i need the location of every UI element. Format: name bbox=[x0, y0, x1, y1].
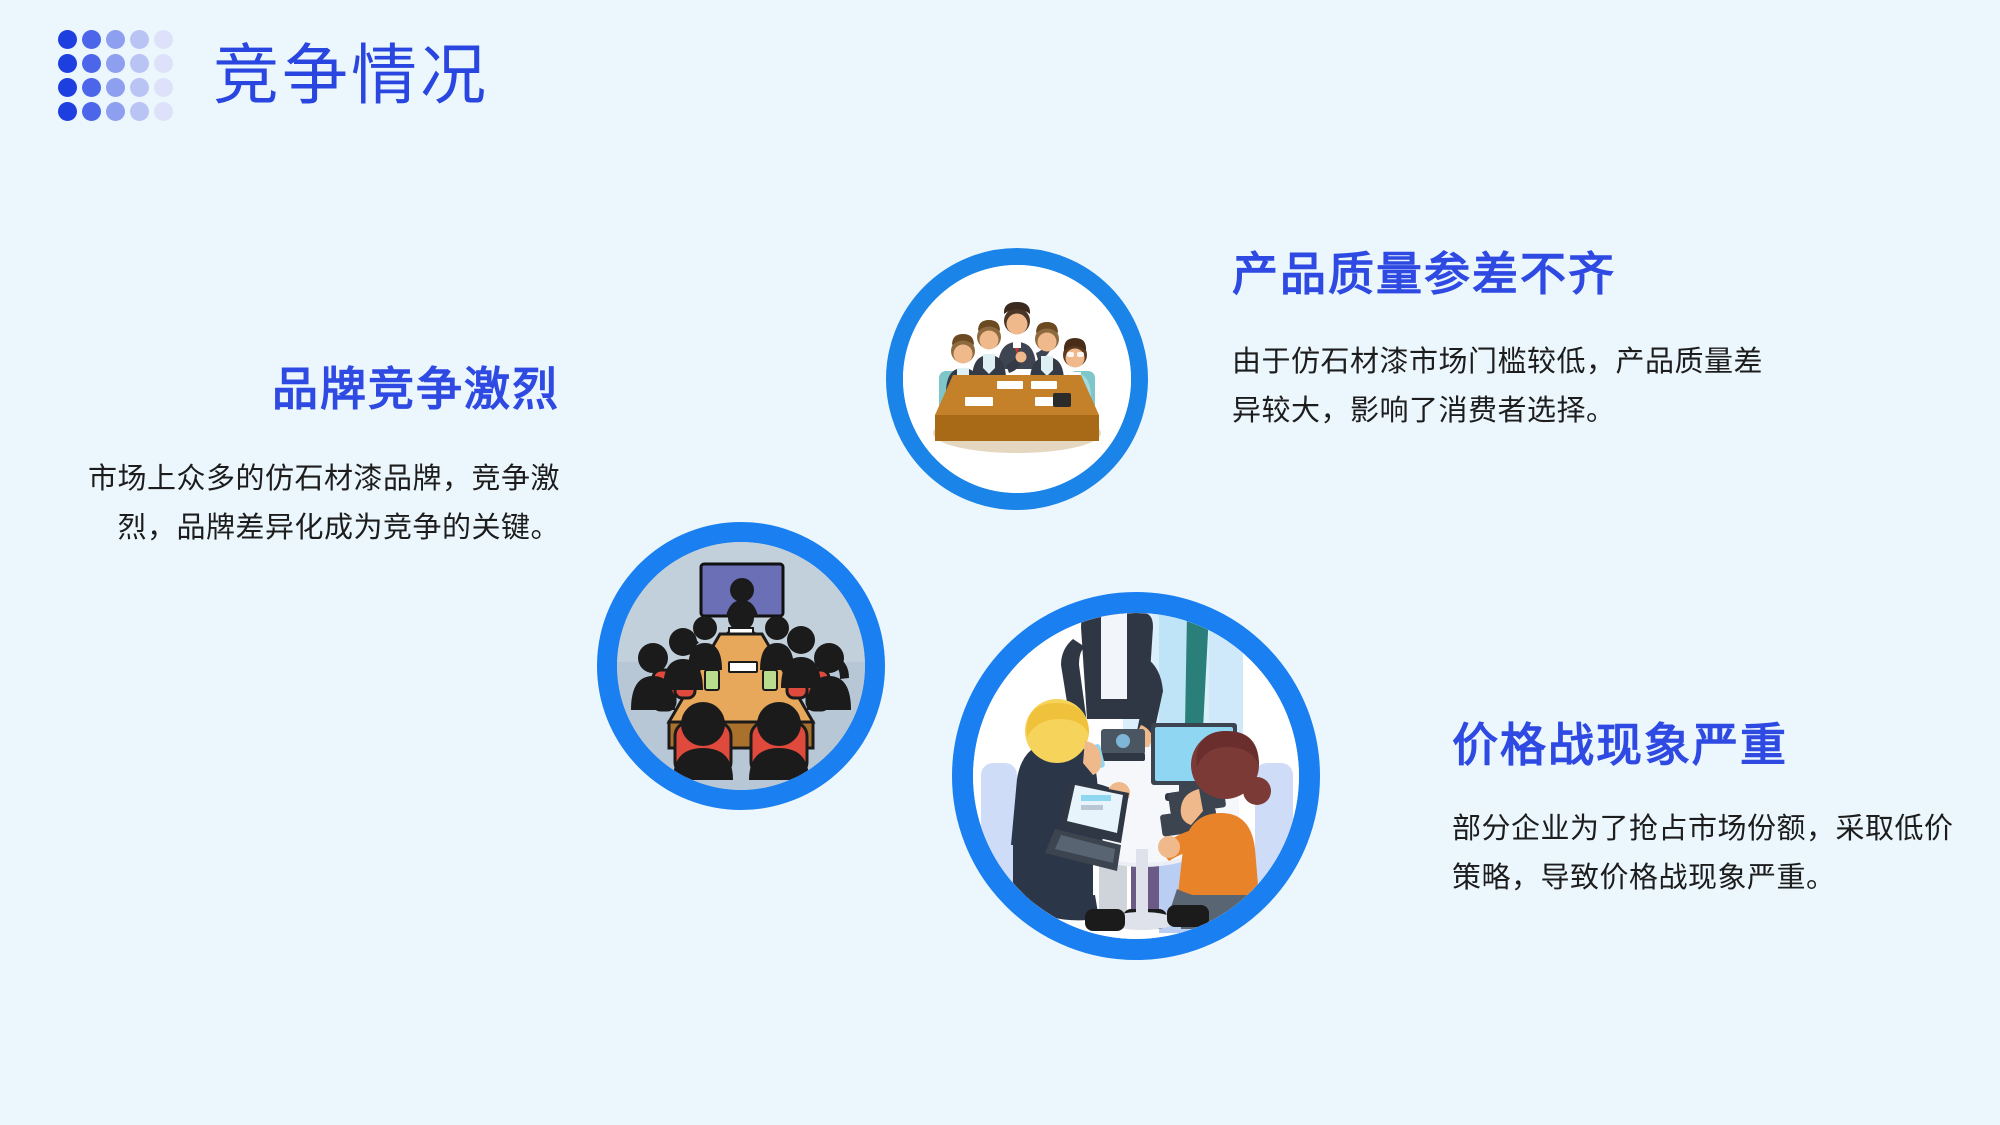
image-circle-boardroom bbox=[597, 522, 885, 810]
body-quality: 由于仿石材漆市场门槛较低，产品质量差异较大，影响了消费者选择。 bbox=[1232, 338, 1792, 435]
text-block-price: 价格战现象严重 部分企业为了抢占市场份额，采取低价策略，导致价格战现象严重。 bbox=[1452, 718, 1972, 903]
body-price: 部分企业为了抢占市场份额，采取低价策略，导致价格战现象严重。 bbox=[1452, 805, 1972, 902]
slide-header: 竞争情况 bbox=[58, 30, 489, 123]
boardroom-illustration-icon bbox=[617, 542, 865, 790]
image-circle-meeting bbox=[886, 248, 1148, 510]
text-block-brand: 品牌竞争激烈 市场上众多的仿石材漆品牌，竞争激烈，品牌差异化成为竞争的关键。 bbox=[60, 362, 560, 553]
heading-price: 价格战现象严重 bbox=[1452, 718, 1972, 773]
heading-quality: 产品质量参差不齐 bbox=[1232, 247, 1792, 302]
workspace-illustration-icon bbox=[973, 613, 1299, 939]
page-title: 竞争情况 bbox=[213, 44, 489, 110]
heading-brand: 品牌竞争激烈 bbox=[60, 362, 560, 417]
meeting-illustration-icon bbox=[903, 265, 1131, 493]
dot-grid-decoration-icon bbox=[58, 30, 175, 123]
slide-canvas: 竞争情况 品牌竞争激烈 市场上众多的仿石材漆品牌，竞争激烈，品牌差异化成为竞争的… bbox=[0, 0, 2000, 1125]
image-circle-workspace bbox=[952, 592, 1320, 960]
text-block-quality: 产品质量参差不齐 由于仿石材漆市场门槛较低，产品质量差异较大，影响了消费者选择。 bbox=[1232, 247, 1792, 436]
body-brand: 市场上众多的仿石材漆品牌，竞争激烈，品牌差异化成为竞争的关键。 bbox=[60, 455, 560, 552]
